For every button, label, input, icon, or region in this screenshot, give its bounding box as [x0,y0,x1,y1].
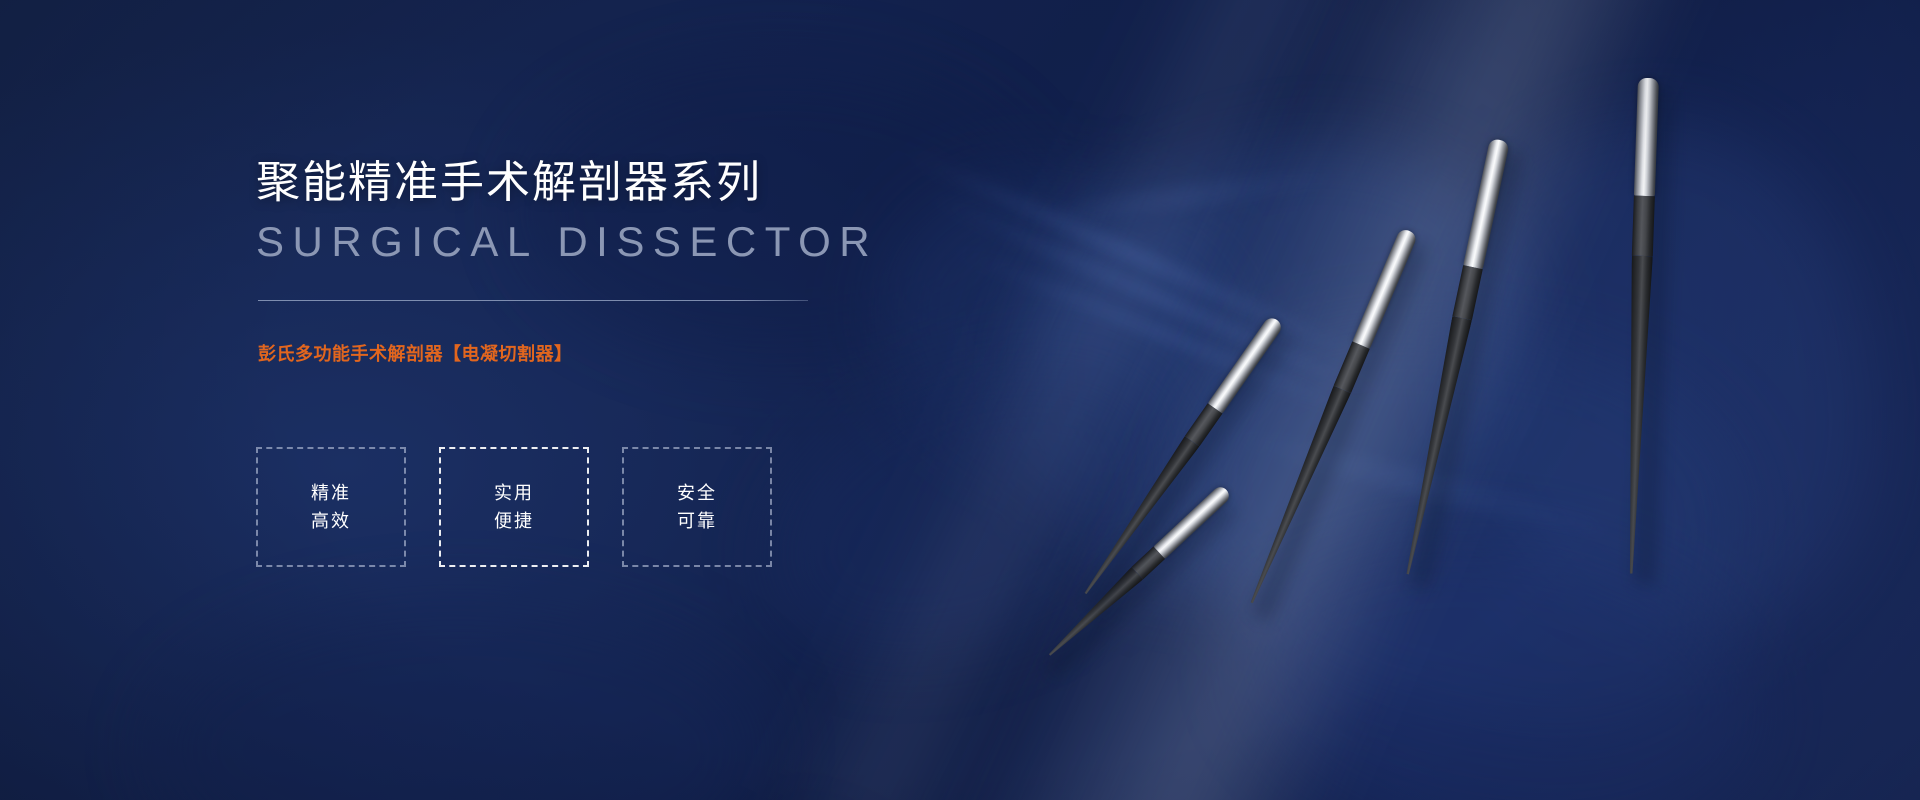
feature-line-2: 可靠 [677,512,717,530]
banner-text-block: 聚能精准手术解剖器系列 SURGICAL DISSECTOR 彭氏多功能手术解剖… [256,0,956,800]
banner-title-english: SURGICAL DISSECTOR [256,218,878,266]
feature-badge-practical: 实用 便捷 [439,447,589,567]
feature-line-2: 高效 [311,512,351,530]
feature-line-2: 便捷 [494,512,534,530]
feature-badge-group: 精准 高效 实用 便捷 安全 可靠 [256,447,772,567]
feature-badge-safety: 安全 可靠 [622,447,772,567]
feature-line-1: 实用 [494,484,534,502]
banner-subtitle-product-name: 彭氏多功能手术解剖器【电凝切割器】 [258,340,573,366]
feature-line-1: 安全 [677,484,717,502]
title-divider [258,300,808,301]
feature-badge-precision: 精准 高效 [256,447,406,567]
product-hero-banner: 聚能精准手术解剖器系列 SURGICAL DISSECTOR 彭氏多功能手术解剖… [0,0,1920,800]
feature-line-1: 精准 [311,484,351,502]
banner-title-chinese: 聚能精准手术解剖器系列 [256,146,762,210]
